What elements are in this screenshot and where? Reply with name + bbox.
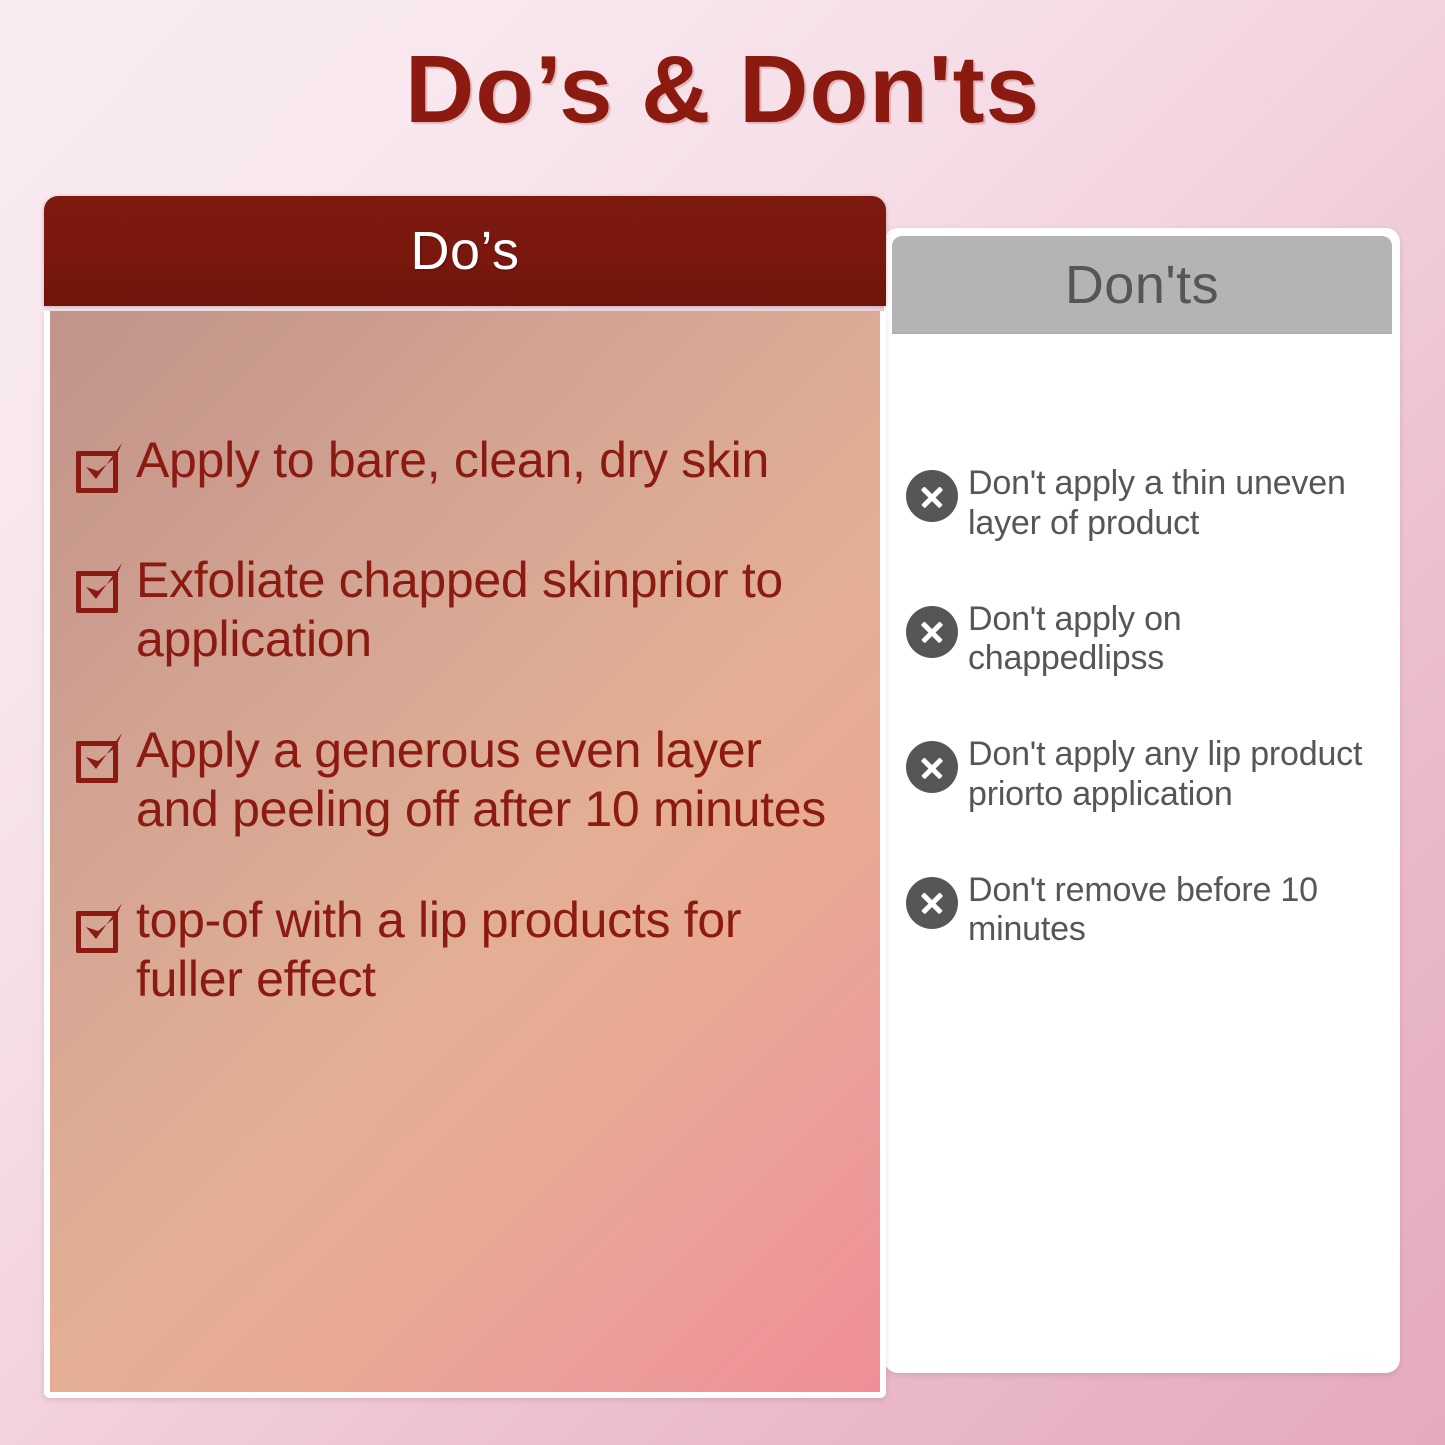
infographic-page: Do’s & Don'ts Don'ts Don't apply a thin … bbox=[0, 0, 1445, 1445]
dos-item-label: top-of with a lip products for fuller ef… bbox=[136, 891, 856, 1009]
dos-item-label: Apply to bare, clean, dry skin bbox=[136, 431, 769, 490]
dos-header-label: Do’s bbox=[410, 220, 519, 282]
list-item: Apply to bare, clean, dry skin bbox=[72, 431, 856, 499]
donts-item-label: Don't apply a thin uneven layer of produ… bbox=[968, 464, 1374, 544]
dos-panel: Do’s Apply to bare, clean, dry skin bbox=[44, 196, 886, 1398]
donts-panel: Don'ts Don't apply a thin uneven layer o… bbox=[884, 228, 1400, 1373]
donts-panel-body: Don't apply a thin uneven layer of produ… bbox=[892, 334, 1392, 1365]
donts-header-label: Don'ts bbox=[1065, 254, 1219, 316]
list-item: Don't remove before 10 minutes bbox=[906, 871, 1374, 951]
checkbox-checked-icon bbox=[72, 731, 130, 789]
donts-panel-header: Don'ts bbox=[892, 236, 1392, 334]
x-circle-icon bbox=[906, 741, 958, 793]
list-item: Exfoliate chapped skinprior to applicati… bbox=[72, 551, 856, 669]
checkbox-checked-icon bbox=[72, 441, 130, 499]
donts-item-label: Don't apply on chappedlipss bbox=[968, 600, 1374, 680]
donts-item-label: Don't remove before 10 minutes bbox=[968, 871, 1374, 951]
donts-item-label: Don't apply any lip product priorto appl… bbox=[968, 735, 1374, 815]
x-circle-icon bbox=[906, 470, 958, 522]
dos-item-label: Exfoliate chapped skinprior to applicati… bbox=[136, 551, 856, 669]
x-circle-icon bbox=[906, 606, 958, 658]
checkbox-checked-icon bbox=[72, 561, 130, 619]
dos-item-label: Apply a generous even layer and peeling … bbox=[136, 721, 856, 839]
list-item: Don't apply on chappedlipss bbox=[906, 600, 1374, 680]
page-title: Do’s & Don'ts bbox=[0, 42, 1445, 138]
dos-panel-body: Apply to bare, clean, dry skin Exfoliate… bbox=[44, 311, 886, 1398]
list-item: Don't apply a thin uneven layer of produ… bbox=[906, 464, 1374, 544]
x-circle-icon bbox=[906, 877, 958, 929]
checkbox-checked-icon bbox=[72, 901, 130, 959]
list-item: Apply a generous even layer and peeling … bbox=[72, 721, 856, 839]
dos-panel-header: Do’s bbox=[44, 196, 886, 306]
list-item: Don't apply any lip product priorto appl… bbox=[906, 735, 1374, 815]
list-item: top-of with a lip products for fuller ef… bbox=[72, 891, 856, 1009]
